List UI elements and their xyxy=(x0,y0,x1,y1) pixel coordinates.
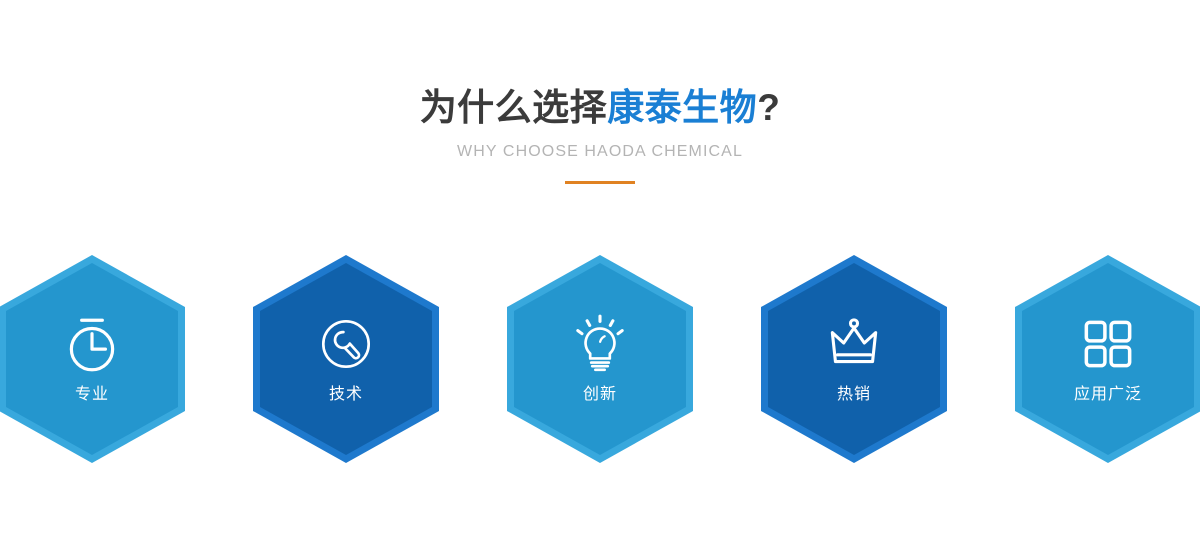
wrench-circle-icon xyxy=(313,311,379,377)
stopwatch-icon xyxy=(59,311,125,377)
feature-hex-bestseller[interactable]: 热销 xyxy=(761,255,947,463)
page-title-accent: 康泰生物 xyxy=(607,87,757,128)
feature-hex-professional[interactable]: 专业 xyxy=(0,255,185,463)
feature-hex-row: 专业 技术 xyxy=(0,255,1200,467)
title-divider xyxy=(565,181,635,184)
hex-label: 热销 xyxy=(837,387,871,403)
page-title: 为什么选择康泰生物? xyxy=(0,88,1200,129)
page-title-prefix: 为什么选择 xyxy=(420,87,608,128)
feature-hex-wide-application[interactable]: 应用广泛 xyxy=(1015,255,1200,463)
hex-label: 应用广泛 xyxy=(1074,387,1142,403)
section-header: 为什么选择康泰生物? WHY CHOOSE HAODA CHEMICAL xyxy=(0,0,1200,185)
page-subtitle: WHY CHOOSE HAODA CHEMICAL xyxy=(0,143,1200,161)
title-divider-wrap xyxy=(0,181,1200,185)
hex-label: 创新 xyxy=(583,387,617,403)
hex-label: 技术 xyxy=(329,387,363,403)
page-title-mark: ? xyxy=(757,87,780,128)
feature-hex-innovation[interactable]: 创新 xyxy=(507,255,693,463)
crown-icon xyxy=(821,311,887,377)
lightbulb-icon xyxy=(567,311,633,377)
feature-hex-technology[interactable]: 技术 xyxy=(253,255,439,463)
grid-squares-icon xyxy=(1075,311,1141,377)
hex-label: 专业 xyxy=(75,387,109,403)
